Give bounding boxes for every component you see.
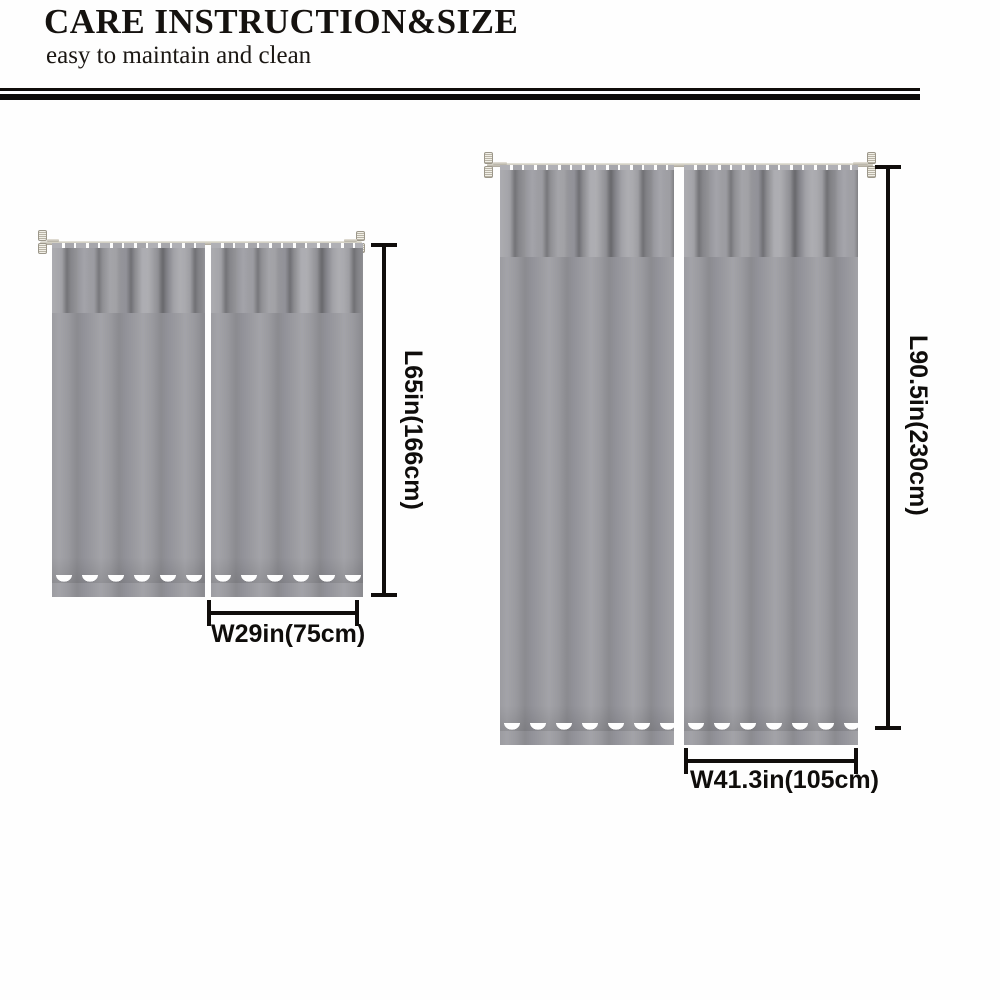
dimension-shaft (684, 759, 858, 763)
finial-neck (344, 239, 357, 242)
curtain-top-edge (500, 165, 674, 170)
finial-knob (867, 152, 876, 164)
finial-knob (356, 231, 365, 241)
curtain-top-edge (684, 165, 858, 170)
curtain-hem (211, 575, 363, 597)
curtain-hem (684, 723, 858, 745)
curtain-hem (500, 723, 674, 745)
finial-knob (38, 230, 47, 241)
height-dimension-line (875, 165, 901, 730)
width-dimension-label: W41.3in(105cm) (690, 766, 879, 795)
dimension-shaft (382, 243, 386, 597)
dimension-shaft (207, 611, 359, 615)
curtain-hem (52, 575, 205, 597)
curtain-pleats (684, 165, 858, 257)
finial-knob (484, 152, 493, 164)
finial-knob (38, 243, 47, 254)
dimension-cap-bottom (371, 593, 397, 597)
curtain-pleats (500, 165, 674, 257)
curtain-pleats (52, 243, 205, 313)
curtain-top-edge (52, 243, 205, 248)
curtain-top-edge (211, 243, 363, 248)
dimension-shaft (886, 165, 890, 730)
curtain-panel (500, 165, 674, 745)
curtain-panel (684, 165, 858, 745)
height-dimension-label: L65in(166cm) (398, 350, 427, 510)
curtain-panel (211, 243, 363, 597)
finial-knob (484, 166, 493, 178)
width-dimension-label: W29in(75cm) (211, 620, 365, 649)
finial-neck (47, 239, 59, 242)
curtain-pleats (211, 243, 363, 313)
dimension-cap-bottom (875, 726, 901, 730)
infographic-canvas: CARE INSTRUCTION&SIZE easy to maintain a… (0, 0, 1000, 1000)
height-dimension-line (371, 243, 397, 597)
curtain-panel (52, 243, 205, 597)
height-dimension-label: L90.5in(230cm) (903, 335, 932, 516)
